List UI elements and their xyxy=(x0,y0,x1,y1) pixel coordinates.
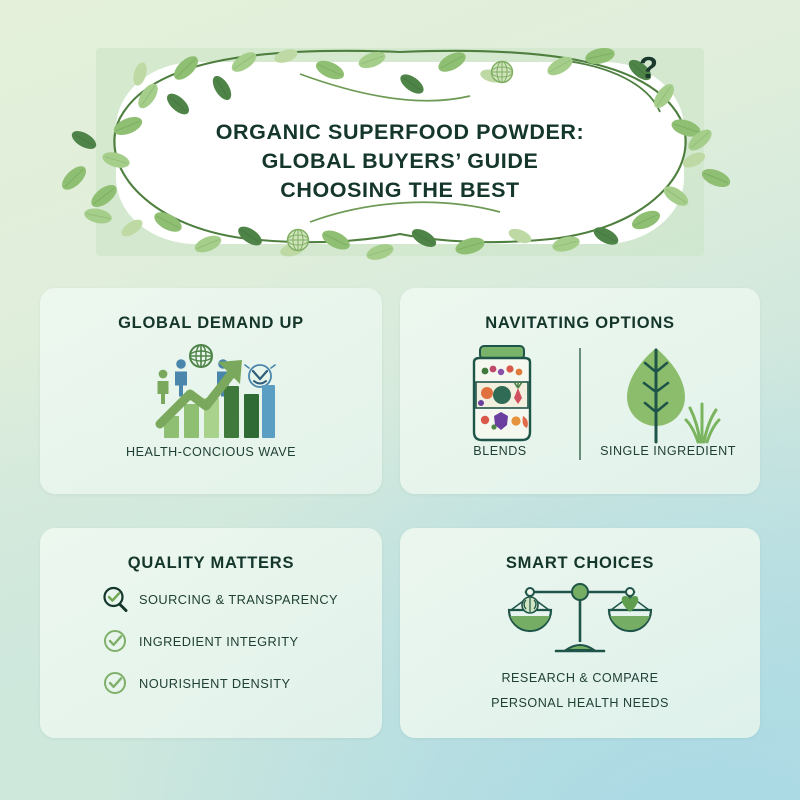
quality-item-label: INGREDIENT INTEGRITY xyxy=(139,634,299,649)
title-line-2: GLOBAL BUYERS’ GUIDE xyxy=(136,147,664,176)
title-line-3: CHOOSING THE BEST xyxy=(136,176,664,205)
superfood-jar-icon xyxy=(454,344,550,448)
card-caption-demand: HEALTH-CONCIOUS WAVE xyxy=(40,445,382,459)
card-caption-smart-2: PERSONAL HEALTH NEEDS xyxy=(400,696,760,710)
quality-list-item[interactable]: NOURISHENT DENSITY xyxy=(102,670,291,696)
page-title: ORGANIC SUPERFOOD POWDER: GLOBAL BUYERS’… xyxy=(136,118,664,205)
quality-list-item[interactable]: INGREDIENT INTEGRITY xyxy=(102,628,299,654)
balance-scale-brain-heart-icon xyxy=(504,580,656,666)
card-smart-choices[interactable]: SMART CHOICES RESEARCH & COMPARE PERSONA… xyxy=(400,528,760,738)
options-divider xyxy=(579,348,581,460)
quality-item-label: NOURISHENT DENSITY xyxy=(139,676,291,691)
title-line-1: ORGANIC SUPERFOOD POWDER: xyxy=(136,118,664,147)
quality-item-label: SOURCING & TRANSPARENCY xyxy=(139,592,338,607)
card-caption-smart-1: RESEARCH & COMPARE xyxy=(400,671,760,685)
card-title-smart: SMART CHOICES xyxy=(400,554,760,573)
card-global-demand[interactable]: GLOBAL DEMAND UP xyxy=(40,288,382,494)
magnifier-check-icon xyxy=(102,586,128,612)
card-quality-matters[interactable]: QUALITY MATTERS SOURCING & TRANSPARENCY … xyxy=(40,528,382,738)
card-title-demand: GLOBAL DEMAND UP xyxy=(40,314,382,333)
quality-list-item[interactable]: SOURCING & TRANSPARENCY xyxy=(102,586,338,612)
card-title-options: NAVITATING OPTIONS xyxy=(400,314,760,333)
infographic-poster: ORGANIC SUPERFOOD POWDER: GLOBAL BUYERS’… xyxy=(0,0,800,800)
check-circle-icon xyxy=(102,628,128,654)
card-title-quality: QUALITY MATTERS xyxy=(40,554,382,573)
option-label-single-ingredient: SINGLE INGREDIENT xyxy=(586,444,750,458)
question-mark-icon: ? xyxy=(639,50,658,86)
card-navigating-options[interactable]: NAVITATING OPTIONS xyxy=(400,288,760,494)
option-label-blends: BLENDS xyxy=(424,444,576,458)
leaf-grass-icon xyxy=(612,342,724,448)
check-circle-icon xyxy=(102,670,128,696)
growth-chart-people-globe-icon xyxy=(150,340,278,440)
header-section: ORGANIC SUPERFOOD POWDER: GLOBAL BUYERS’… xyxy=(0,0,800,280)
